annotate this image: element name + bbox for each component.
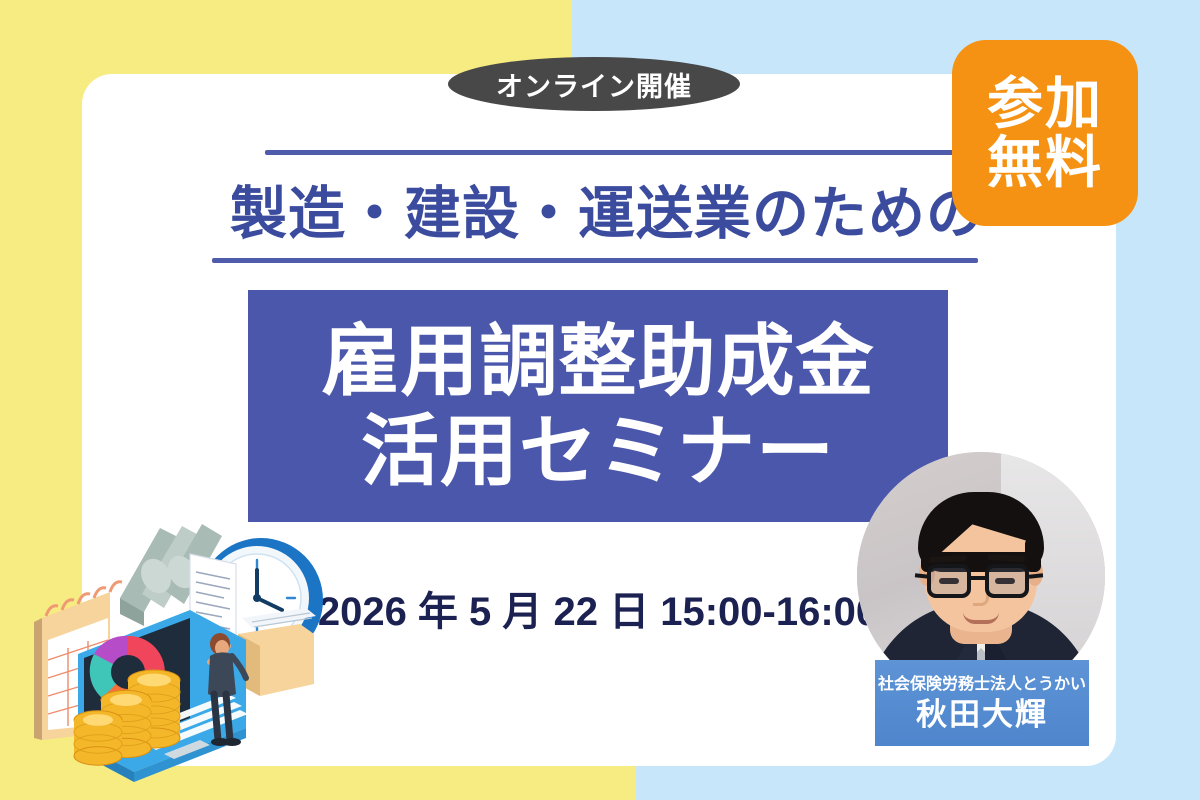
glasses-lens-left: [927, 564, 971, 598]
isometric-finance-illustration: [24, 514, 336, 800]
banner-subtitle-text: 製造・建設・運送業のための: [230, 168, 984, 250]
glasses-lens-right: [985, 564, 1029, 598]
event-datetime-text: 2026 年 5 月 22 日 15:00-16:00: [318, 579, 878, 637]
glasses-temple-left: [915, 573, 929, 578]
online-event-badge-label: オンライン開催: [496, 65, 692, 104]
free-badge-line-1: 参加: [987, 75, 1103, 132]
speaker-name: 秋田大輝: [916, 696, 1048, 735]
seminar-banner: 製造・建設・運送業のための 雇用調整助成金 活用セミナー 2026 年 5 月 …: [0, 0, 1200, 800]
headline-line-2: 活用セミナー: [361, 406, 835, 496]
banner-headline: 雇用調整助成金 活用セミナー: [248, 290, 948, 522]
free-admission-badge: 参加 無料: [952, 40, 1138, 226]
banner-subtitle: 製造・建設・運送業のための: [212, 165, 1002, 253]
event-datetime: 2026 年 5 月 22 日 15:00-16:00: [248, 578, 948, 638]
glasses-bridge: [971, 576, 985, 580]
speaker-nameplate: 社会保険労務士法人とうかい 秋田大輝: [875, 660, 1089, 746]
coin-stack-short: [74, 711, 122, 765]
glasses-temple-right: [1029, 573, 1043, 578]
divider-top: [265, 150, 978, 155]
divider-bottom: [212, 258, 978, 263]
speaker-organization: 社会保険労務士法人とうかい: [878, 675, 1086, 694]
online-event-badge: オンライン開催: [448, 57, 740, 111]
free-badge-line-2: 無料: [987, 134, 1103, 191]
headline-line-1: 雇用調整助成金: [321, 316, 874, 406]
